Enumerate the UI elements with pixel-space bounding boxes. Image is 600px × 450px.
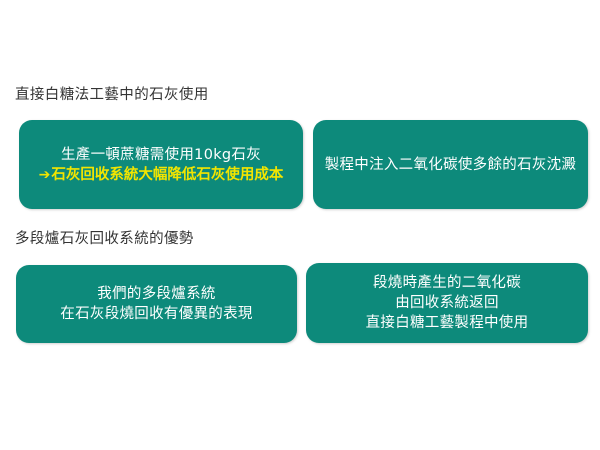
card-co2-return-line-2: 由回收系統返回 [395, 293, 499, 313]
section-heading-lime-use: 直接白糖法工藝中的石灰使用 [15, 88, 209, 103]
card-co2-return: 段燒時產生的二氧化碳 由回收系統返回 直接白糖工藝製程中使用 [306, 263, 588, 343]
card-lime-consumption-line-2: ➔石灰回收系統大幅降低石灰使用成本 [39, 165, 284, 185]
card-co2-return-line-3: 直接白糖工藝製程中使用 [366, 313, 529, 333]
right-arrow-icon: ➔ [39, 167, 51, 183]
card-lime-consumption: 生產一頓蔗糖需使用10kg石灰 ➔石灰回收系統大幅降低石灰使用成本 [19, 120, 303, 209]
slide-canvas: 直接白糖法工藝中的石灰使用 生產一頓蔗糖需使用10kg石灰 ➔石灰回收系統大幅降… [0, 0, 600, 450]
card-co2-return-line-1: 段燒時產生的二氧化碳 [373, 273, 521, 293]
card-co2-injection-line-1: 製程中注入二氧化碳使多餘的石灰沈澱 [325, 155, 577, 175]
card-co2-injection: 製程中注入二氧化碳使多餘的石灰沈澱 [313, 120, 588, 209]
card-msf-performance-line-2: 在石灰段燒回收有優異的表現 [60, 304, 252, 324]
section-heading-advantage: 多段爐石灰回收系統的優勢 [15, 232, 194, 247]
card-msf-performance-line-1: 我們的多段爐系統 [97, 284, 215, 304]
card-lime-consumption-line-1: 生產一頓蔗糖需使用10kg石灰 [61, 145, 261, 165]
card-msf-performance: 我們的多段爐系統 在石灰段燒回收有優異的表現 [16, 265, 297, 343]
card-lime-consumption-line-2-text: 石灰回收系統大幅降低石灰使用成本 [51, 167, 283, 183]
